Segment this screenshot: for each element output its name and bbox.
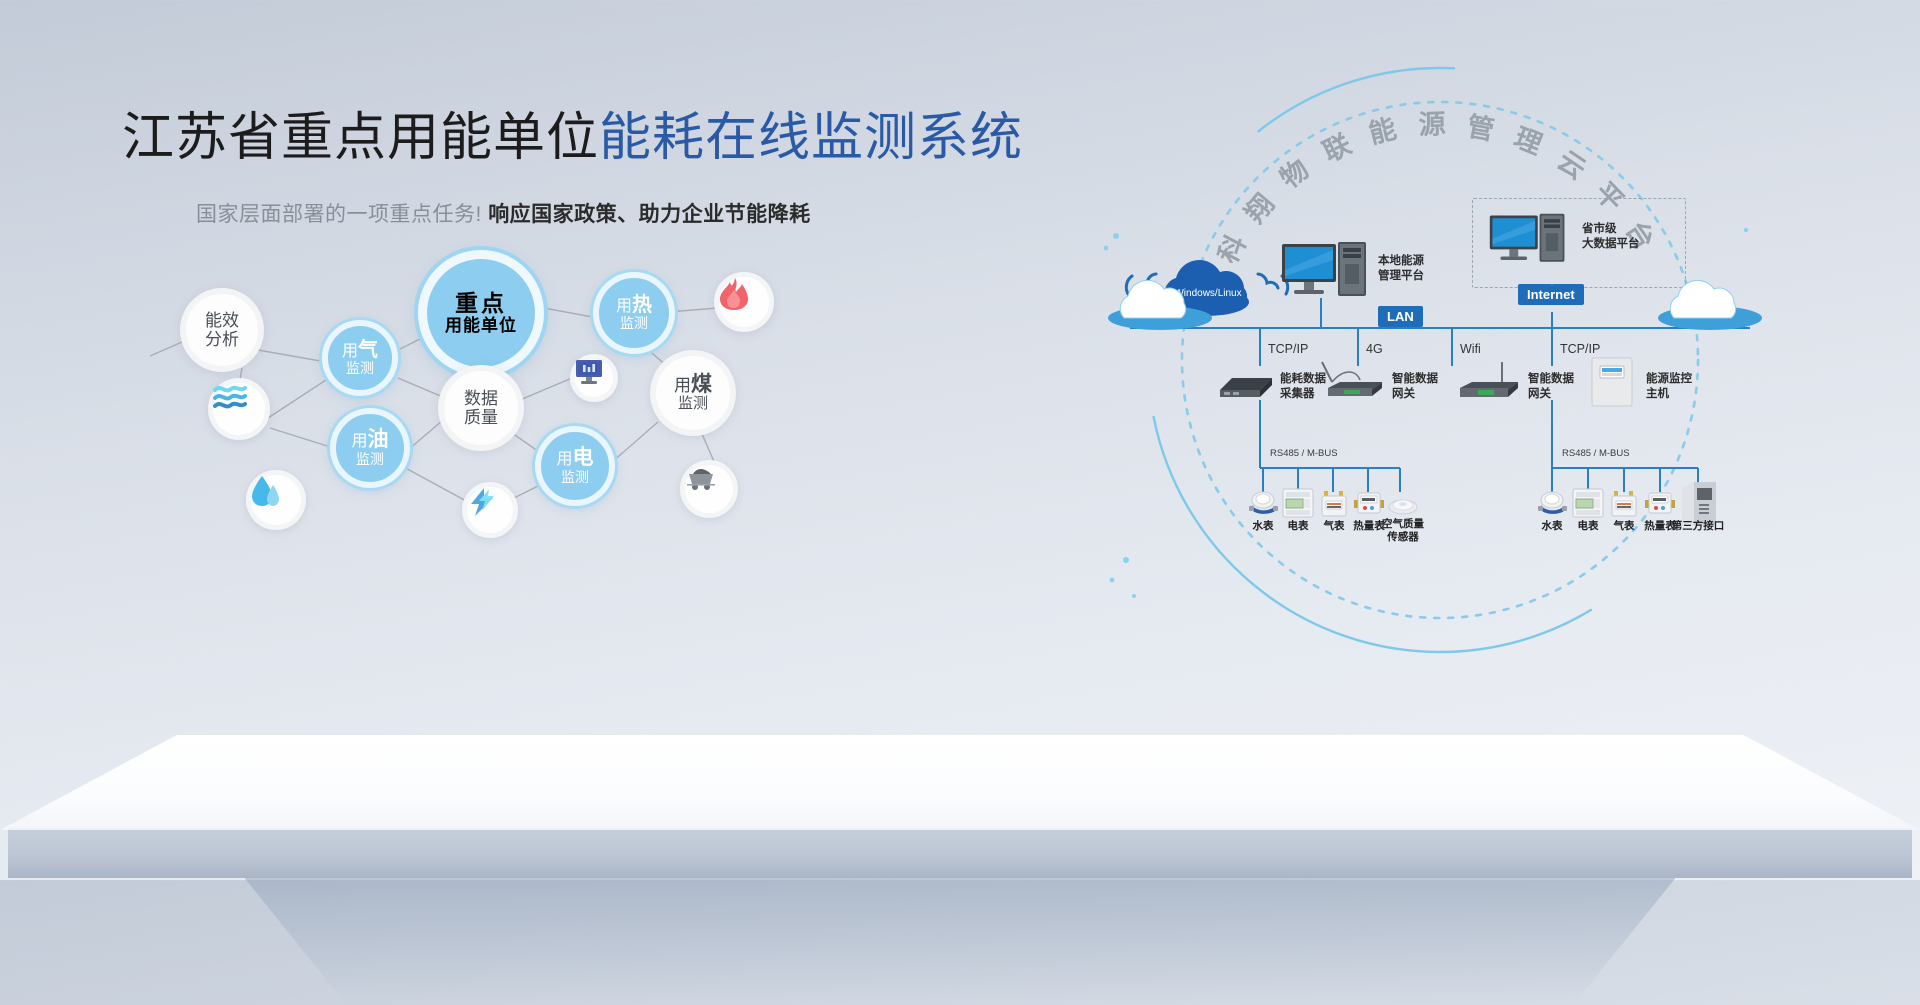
bubble-node-oil-monitor[interactable]: 用油 监测 [330,408,410,488]
meter-label-water-left: 水表 [1253,520,1274,533]
bubble-node-line2: 监测 [561,470,589,486]
bubble-icon-node-bolt[interactable] [462,482,518,538]
water-meter-icon [1537,490,1567,516]
smart-gateway-icon [1452,360,1524,404]
decorative-cloud-left [1108,280,1212,330]
bubble-icon-node-waterdrop[interactable] [246,470,306,530]
page-subtitle-lead: 国家层面部署的一项重点任务! [196,203,482,226]
waves-icon [213,383,247,409]
protocol-label-0: TCP/IP [1268,342,1308,356]
meter-label-electric-right: 电表 [1578,520,1599,533]
page-title-primary: 江苏省重点用能单位 [122,109,599,167]
bubble-node-line1: 用电 [556,446,593,470]
bubble-node-line1: 用气 [342,339,378,361]
waterdrop-icon [251,475,279,507]
energy-bubble-diagram: 重点 用能单位 能效 分析 用气 监测 用热 监测 数据 质量 用煤 监测 用油… [150,250,970,580]
gas-meter-icon [1610,490,1638,518]
meter-label-gas-right: 气表 [1614,520,1635,533]
bubble-node-coal-monitor[interactable]: 用煤 监测 [650,350,736,436]
bubble-icon-node-coalcart[interactable] [680,460,738,518]
bubble-node-line1: 用煤 [674,373,712,397]
bubble-icon-node-fire[interactable] [714,272,774,332]
architecture-links [1100,60,1780,680]
podium-shadow [230,860,1690,1005]
bubble-node-line2: 用能单位 [445,316,517,335]
bubble-node-line2: 质量 [464,408,498,427]
bubble-node-line1: 重点 [455,291,507,317]
meter-electric-right[interactable] [1572,488,1604,523]
bubble-node-line2: 监测 [620,316,648,332]
meter-water-right[interactable] [1537,490,1567,521]
bubble-node-line2: 监测 [346,361,374,377]
device-data-collector[interactable] [1218,370,1274,405]
meter-label-gas-left: 气表 [1324,520,1345,533]
meter-label-third-party-right: 第三方接口 [1672,520,1725,533]
podium-front-face [8,828,1912,878]
water-meter-icon [1248,490,1278,516]
electric-meter-icon [1282,488,1314,518]
meter-label-electric-left: 电表 [1288,520,1309,533]
device-label-2: 智能数据网关 [1528,372,1574,402]
electric-meter-icon [1572,488,1604,518]
bubble-icon-node-monitor[interactable] [570,354,618,402]
bubble-node-line2: 分析 [205,330,239,349]
page-subtitle-emphasis: 响应国家政策、助力企业节能降耗 [488,203,811,226]
meter-electric-left[interactable] [1282,488,1314,523]
display-podium [0,735,1920,880]
bubble-node-line1: 用油 [351,428,388,452]
coalcart-icon [685,465,717,491]
bubble-node-energy-efficiency[interactable]: 能效 分析 [180,288,264,372]
podium-top-surface [0,735,1920,830]
bubble-node-line2: 监测 [356,452,384,468]
meter-gas-left[interactable] [1320,490,1348,523]
bubble-node-gas-monitor[interactable]: 用气 监测 [322,320,398,396]
bus-label-1: RS485 / M-BUS [1562,448,1630,459]
device-energy-host[interactable] [1590,356,1634,413]
air-quality-sensor-icon [1388,496,1418,516]
page-title-accent: 能耗在线监测系统 [599,109,1023,167]
protocol-label-1: 4G [1366,342,1383,356]
device-smart-gateway-2[interactable] [1452,360,1524,409]
page-title: 江苏省重点用能单位能耗在线监测系统 [122,95,1023,170]
meter-heat-left[interactable] [1354,490,1384,521]
bubble-node-line1: 能效 [205,311,239,330]
meter-gas-right[interactable] [1610,490,1638,523]
bubble-node-power-monitor[interactable]: 用电 监测 [535,426,615,506]
cloud-architecture-diagram: 科翔物联能源管理云平台 Windows/Linux 本地能源 管理 [1100,60,1780,680]
bubble-icon-node-waves[interactable] [208,378,270,440]
device-label-1: 智能数据网关 [1392,372,1438,402]
meter-heat-right[interactable] [1645,490,1675,521]
bubble-node-data-quality[interactable]: 数据 质量 [438,365,524,451]
meter-label-water-right: 水表 [1542,520,1563,533]
bubble-node-line1: 数据 [464,389,498,408]
page-subtitle: 国家层面部署的一项重点任务! 响应国家政策、助力企业节能降耗 [196,198,811,228]
meter-water-left[interactable] [1248,490,1278,521]
fire-icon [719,277,749,311]
protocol-label-3: TCP/IP [1560,342,1600,356]
device-label-3: 能源监控主机 [1646,372,1692,402]
protocol-label-2: Wifi [1460,342,1481,356]
meter-label-air-quality-left: 空气质量 传感器 [1382,518,1424,544]
heat-meter-icon [1645,490,1675,516]
monitor-icon [575,359,603,385]
heat-meter-icon [1354,490,1384,516]
bubble-node-line2: 监测 [678,396,708,413]
data-collector-icon [1218,370,1274,400]
meter-label-heat-left: 热量表 [1353,520,1385,533]
gas-meter-icon [1320,490,1348,518]
device-smart-gateway-1[interactable] [1316,360,1388,409]
bubble-node-key-energy-unit[interactable]: 重点 用能单位 [418,250,544,376]
bolt-icon [467,487,497,517]
bubble-node-heat-monitor[interactable]: 用热 监测 [593,272,675,354]
bus-label-0: RS485 / M-BUS [1270,448,1338,459]
smart-gateway-icon [1316,360,1388,404]
energy-host-icon [1590,356,1634,408]
bubble-connector-lines [150,250,970,580]
decorative-cloud-right [1658,280,1762,330]
lan-chip: LAN [1378,306,1423,327]
bubble-node-line1: 用热 [616,294,652,316]
